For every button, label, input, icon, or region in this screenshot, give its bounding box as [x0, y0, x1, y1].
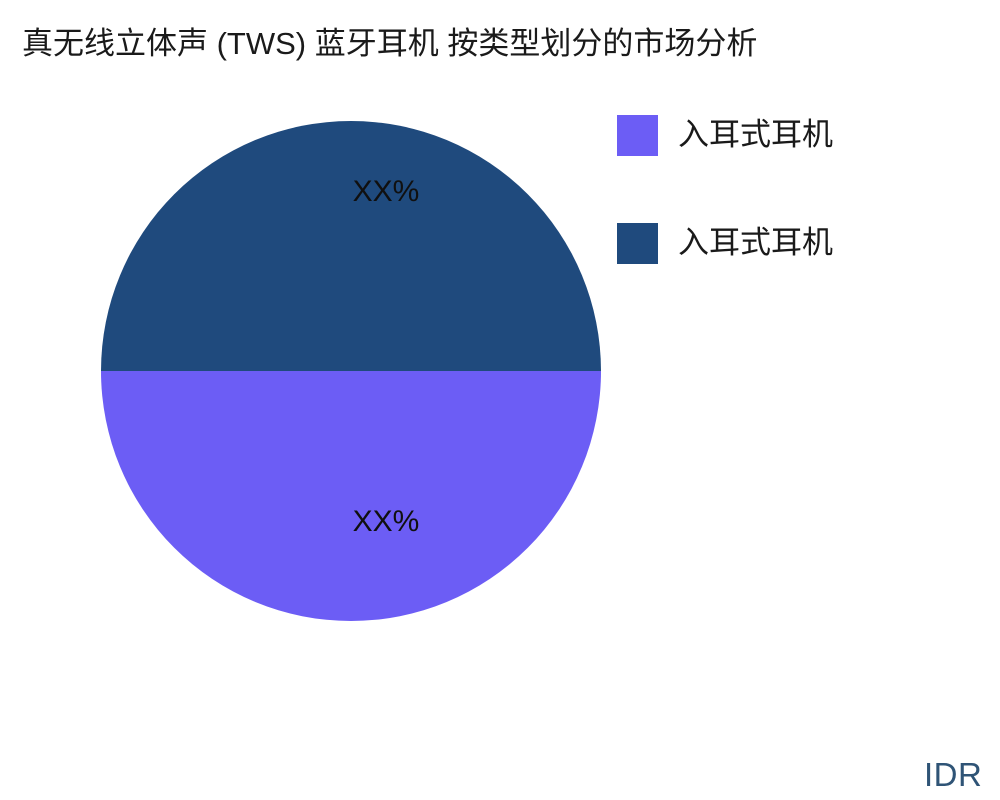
pie-chart: XX% XX% — [101, 121, 601, 621]
legend-label-1: 入耳式耳机 — [678, 224, 833, 262]
pie-slice-label-darkblue: XX% — [353, 175, 420, 208]
pie-slice-darkblue[interactable] — [101, 121, 601, 371]
legend-label-0: 入耳式耳机 — [678, 116, 833, 154]
chart-title: 真无线立体声 (TWS) 蓝牙耳机 按类型划分的市场分析 — [22, 24, 757, 64]
pie-slice-purple[interactable] — [101, 371, 601, 621]
legend-item-1[interactable]: 入耳式耳机 — [617, 220, 957, 266]
pie-slice-label-purple: XX% — [353, 505, 420, 538]
legend-swatch-purple-icon — [617, 115, 658, 156]
legend-swatch-darkblue-icon — [617, 223, 658, 264]
legend-item-0[interactable]: 入耳式耳机 — [617, 112, 957, 158]
watermark-idr: IDR — [924, 757, 982, 793]
pie-chart-svg: XX% XX% — [101, 121, 601, 621]
chart-legend: 入耳式耳机 入耳式耳机 — [617, 112, 957, 266]
